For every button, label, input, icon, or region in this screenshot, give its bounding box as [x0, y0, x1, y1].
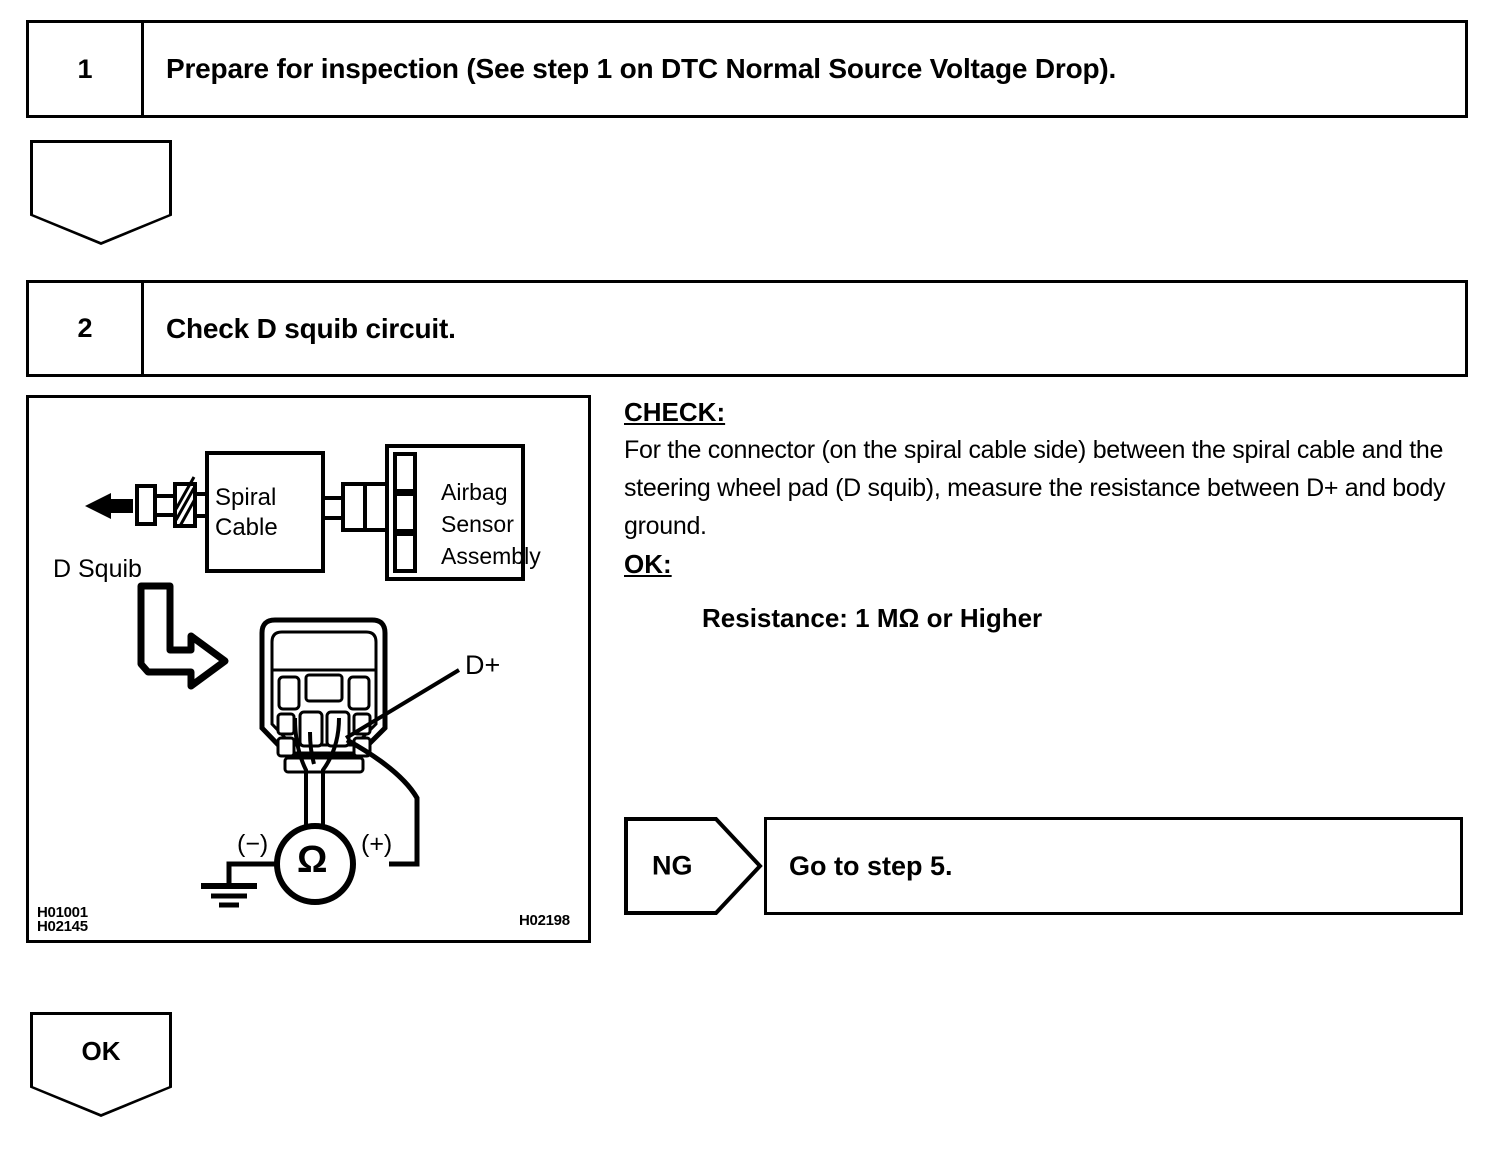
check-description: For the connector (on the spiral cable s… [624, 431, 1476, 545]
ng-tag-label: NG [652, 851, 693, 882]
spiral-cable-label-line2: Cable [215, 514, 278, 541]
ng-action-label: Go to step 5. [789, 851, 953, 882]
d-plus-terminal-label: D+ [465, 650, 500, 681]
step-1-title: Prepare for inspection (See step 1 on DT… [144, 23, 1116, 115]
meter-negative-label: (−) [237, 830, 268, 859]
step-1-box: 1 Prepare for inspection (See step 1 on … [26, 20, 1468, 118]
ohmmeter-symbol: Ω [297, 841, 327, 879]
ng-tag: NG [624, 817, 764, 915]
airbag-label-line2: Sensor [441, 511, 514, 537]
d-squib-label: D Squib [53, 555, 142, 584]
flow-connector-ok-label: OK [33, 1015, 169, 1114]
airbag-sensor-assembly-label: Airbag Sensor Assembly [441, 476, 541, 572]
airbag-label-line1: Airbag [441, 479, 507, 505]
check-heading: CHECK: [624, 393, 1476, 431]
ok-heading: OK: [624, 545, 1476, 583]
step-1-number: 1 [29, 23, 144, 115]
check-instruction-block: CHECK: For the connector (on the spiral … [624, 393, 1476, 637]
ng-branch: NG Go to step 5. [624, 817, 1463, 915]
figure-code-left-bottom: H02145 [37, 919, 88, 934]
spiral-cable-label-line1: Spiral [215, 484, 276, 511]
resistance-specification: Resistance: 1 MΩ or Higher [624, 599, 1476, 637]
step-2-number: 2 [29, 283, 144, 374]
meter-positive-label: (+) [361, 830, 392, 859]
step-2-box: 2 Check D squib circuit. [26, 280, 1468, 377]
d-squib-circuit-diagram: Spiral Cable Airbag Sensor Assembly D Sq… [26, 395, 591, 943]
flow-connector-after-step-1 [30, 140, 172, 245]
flow-connector-label-blank [33, 143, 169, 242]
spiral-cable-label: Spiral Cable [215, 483, 278, 543]
step-2-title: Check D squib circuit. [144, 283, 456, 374]
ng-action-box: Go to step 5. [764, 817, 1463, 915]
flow-connector-ok: OK [30, 1012, 172, 1117]
figure-code-right: H02198 [519, 913, 570, 928]
airbag-label-line3: Assembly [441, 543, 541, 569]
